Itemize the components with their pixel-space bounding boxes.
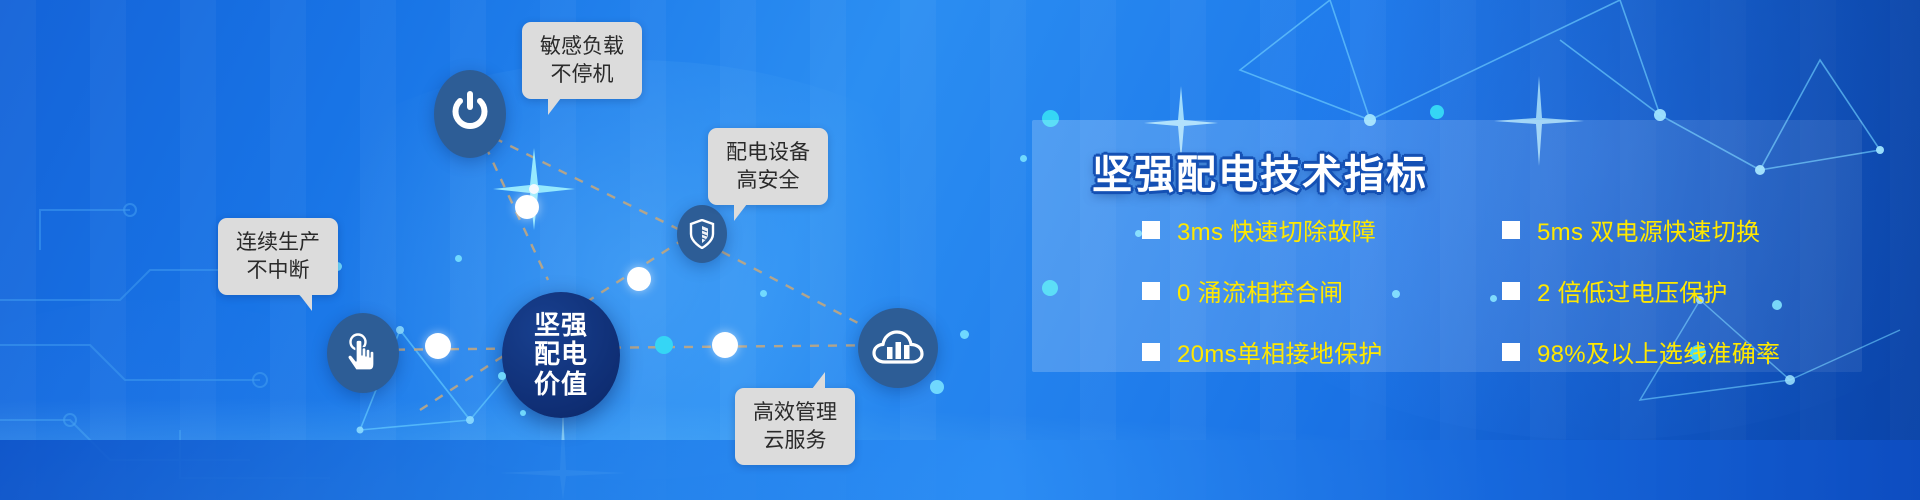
bullet-square-icon	[1502, 221, 1520, 239]
bullet-square-icon	[1142, 282, 1160, 300]
spec-item-label: 5ms 双电源快速切换	[1537, 212, 1760, 247]
link-dot-1	[515, 195, 539, 219]
node-power[interactable]	[434, 70, 506, 158]
ambient-dot-10	[1020, 155, 1027, 162]
spec-item[interactable]: 2 倍低过电压保护	[1502, 273, 1862, 308]
callout-equipment-safety-line-1: 配电设备	[726, 139, 810, 167]
spec-item-label: 20ms单相接地保护	[1177, 334, 1383, 369]
spec-item[interactable]: 3ms 快速切除故障	[1142, 212, 1502, 247]
center-hub-line-3: 价值	[534, 370, 588, 399]
callout-tail	[734, 204, 747, 221]
callout-continuous-production-line-1: 连续生产	[236, 229, 320, 257]
spec-item[interactable]: 0 涌流相控合闸	[1142, 273, 1502, 308]
bottom-color-band	[0, 440, 1920, 500]
bullet-square-icon	[1502, 343, 1520, 361]
tech-spec-panel: 坚强配电技术指标 3ms 快速切除故障 5ms 双电源快速切换 0 涌流相控合闸…	[1032, 120, 1862, 372]
callout-cloud-management-line-1: 高效管理	[753, 399, 837, 427]
link-dot-2	[627, 267, 651, 291]
callout-tail	[299, 294, 312, 311]
shield-icon	[689, 219, 715, 249]
callout-cloud-management[interactable]: 高效管理 云服务	[735, 388, 855, 465]
callout-equipment-safety-line-2: 高安全	[726, 167, 810, 195]
ambient-dot-6	[760, 290, 767, 297]
spec-item[interactable]: 98%及以上选线准确率	[1502, 334, 1862, 369]
center-hub-label: 坚强 配电 价值	[534, 311, 588, 398]
ambient-dot-5	[520, 410, 526, 416]
spec-item[interactable]: 5ms 双电源快速切换	[1502, 212, 1862, 247]
callout-equipment-safety[interactable]: 配电设备 高安全	[708, 128, 828, 205]
spec-item-label: 2 倍低过电压保护	[1537, 273, 1728, 308]
spec-item[interactable]: 20ms单相接地保护	[1142, 334, 1502, 369]
ambient-dot-4	[498, 372, 506, 380]
power-button-icon	[450, 91, 490, 137]
ambient-dot-7	[930, 380, 944, 394]
callout-cloud-management-line-2: 云服务	[753, 427, 837, 455]
link-dot-5	[655, 336, 673, 354]
callout-sensitive-load-line-2: 不停机	[540, 61, 624, 89]
bullet-square-icon	[1142, 343, 1160, 361]
link-dot-3	[425, 333, 451, 359]
ambient-dot-8	[960, 330, 969, 339]
callout-tail	[812, 372, 825, 389]
promo-banner: 坚强 配电 价值 敏感负载 不停机 配电设备 高安全 连续生产 不中断 高效管	[0, 0, 1920, 500]
center-hub-line-1: 坚强	[534, 311, 588, 340]
node-center-hub[interactable]: 坚强 配电 价值	[502, 292, 620, 418]
cloud-bar-chart-icon	[872, 328, 924, 368]
link-dot-4	[712, 332, 738, 358]
spec-list: 3ms 快速切除故障 5ms 双电源快速切换 0 涌流相控合闸 2 倍低过电压保…	[1142, 212, 1862, 369]
spec-item-label: 0 涌流相控合闸	[1177, 273, 1343, 308]
callout-sensitive-load-line-1: 敏感负载	[540, 33, 624, 61]
spec-item-label: 98%及以上选线准确率	[1537, 334, 1780, 369]
hand-pointer-icon	[343, 331, 383, 375]
callout-continuous-production[interactable]: 连续生产 不中断	[218, 218, 338, 295]
callout-tail	[548, 98, 561, 115]
node-cloud-chart[interactable]	[858, 308, 938, 388]
spec-panel-title: 坚强配电技术指标	[1092, 142, 1428, 200]
spec-item-label: 3ms 快速切除故障	[1177, 212, 1376, 247]
ambient-dot-17	[1430, 105, 1444, 119]
center-hub-line-2: 配电	[534, 340, 588, 369]
node-touch[interactable]	[327, 313, 399, 393]
callout-sensitive-load[interactable]: 敏感负载 不停机	[522, 22, 642, 99]
bullet-square-icon	[1142, 221, 1160, 239]
node-shield[interactable]	[677, 205, 727, 263]
callout-continuous-production-line-2: 不中断	[236, 257, 320, 285]
ambient-dot-3	[455, 255, 462, 262]
bullet-square-icon	[1502, 282, 1520, 300]
